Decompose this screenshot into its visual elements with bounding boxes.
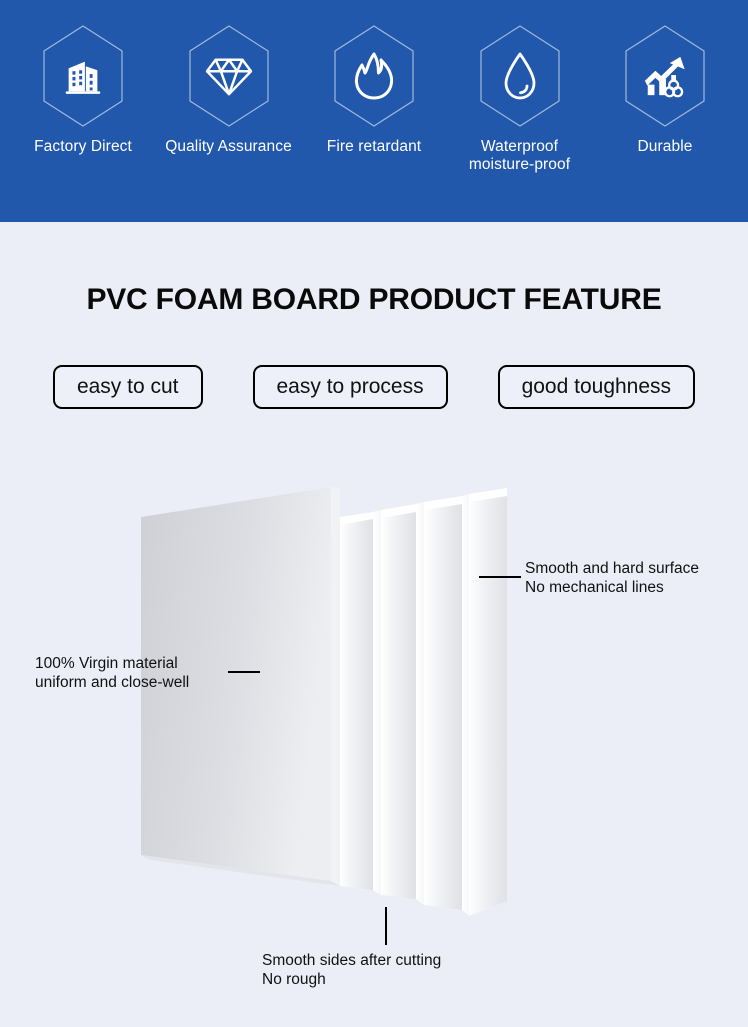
factory-building-icon — [60, 53, 106, 99]
hexagon-frame — [41, 24, 125, 128]
hexagon-frame — [187, 24, 271, 128]
feature-pill-easy-to-process[interactable]: easy to process — [253, 365, 448, 409]
hexagon-frame — [478, 24, 562, 128]
feature-pill-easy-to-cut[interactable]: easy to cut — [53, 365, 203, 409]
feature-item-fire-retardant: Fire retardant — [305, 0, 443, 156]
sides-annotation: Smooth sides after cutting No rough — [262, 951, 441, 990]
feature-item-waterproof: Waterproof moisture-proof — [451, 0, 589, 174]
feature-label: Factory Direct — [34, 138, 132, 156]
feature-pill-good-toughness[interactable]: good toughness — [498, 365, 695, 409]
pvc-board-stack — [0, 455, 748, 975]
feature-banner: Factory Direct Quality Assurance — [0, 0, 748, 222]
page-title: PVC FOAM BOARD PRODUCT FEATURE — [0, 283, 748, 317]
feature-item-quality-assurance: Quality Assurance — [160, 0, 298, 156]
feature-pill-row: easy to cut easy to process good toughne… — [0, 365, 748, 409]
hexagon-frame — [623, 24, 707, 128]
product-illustration — [0, 455, 748, 975]
flame-icon — [353, 51, 395, 101]
material-leader-line — [228, 671, 260, 673]
feature-label: Quality Assurance — [165, 138, 292, 156]
feature-label: Durable — [638, 138, 693, 156]
surface-leader-line — [479, 576, 521, 578]
feature-item-durable: Durable — [596, 0, 734, 156]
growth-chart-icon — [641, 53, 689, 99]
sides-leader-line — [385, 907, 387, 945]
feature-item-factory-direct: Factory Direct — [14, 0, 152, 156]
feature-label: Waterproof moisture-proof — [451, 138, 589, 174]
board-slab-group — [331, 488, 507, 916]
feature-label: Fire retardant — [327, 138, 421, 156]
water-drop-icon — [502, 51, 538, 101]
hexagon-frame — [332, 24, 416, 128]
surface-annotation: Smooth and hard surface No mechanical li… — [525, 559, 699, 598]
diamond-gem-icon — [205, 54, 253, 98]
material-annotation: 100% Virgin material uniform and close-w… — [35, 654, 189, 693]
